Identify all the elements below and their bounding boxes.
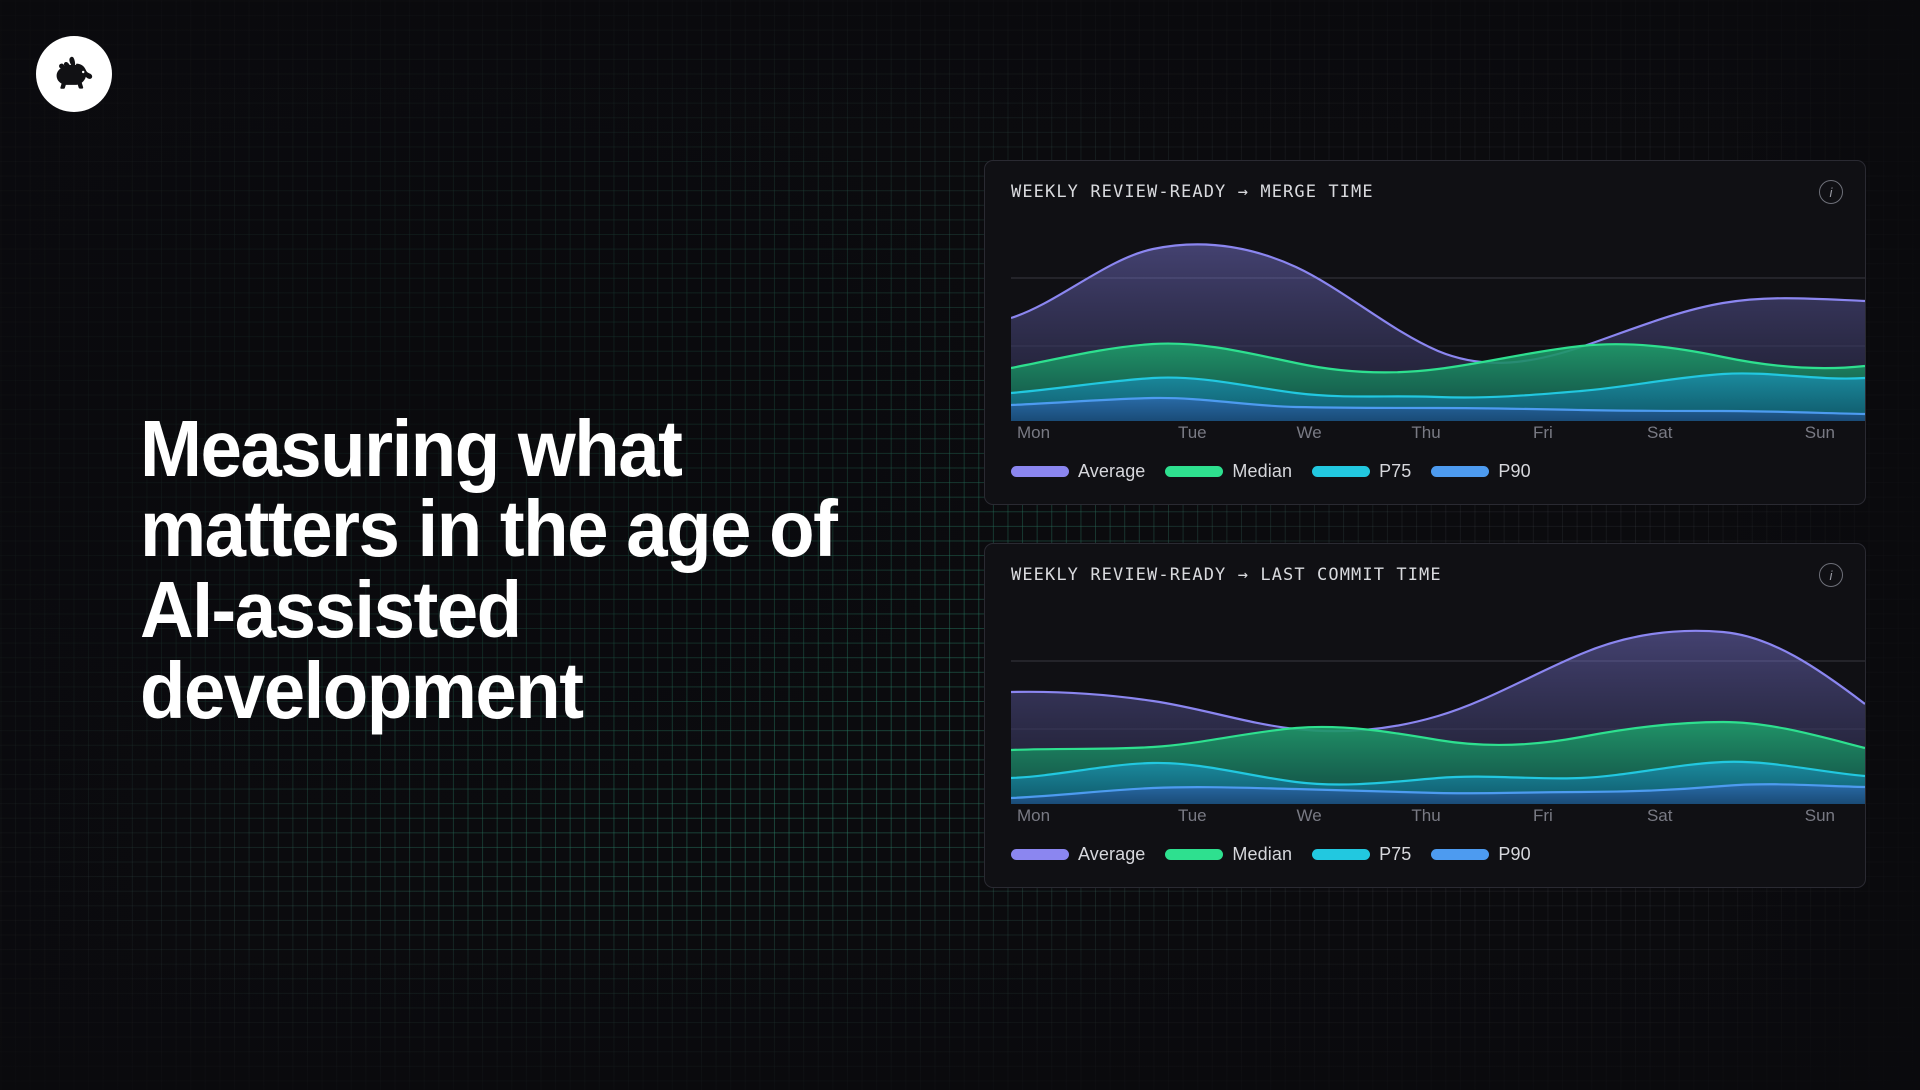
- chart-legend: Average Median P75 P90: [1011, 461, 1531, 482]
- legend-item-p90[interactable]: P90: [1431, 461, 1530, 482]
- legend-swatch-median: [1165, 466, 1223, 477]
- axis-tick-fri: Fri: [1484, 423, 1601, 445]
- chart-svg: [1011, 223, 1865, 421]
- metric-card-last-commit-time: WEEKLY REVIEW-READY → LAST COMMIT TIME i: [984, 543, 1866, 888]
- axis-tick-we: We: [1251, 806, 1368, 828]
- legend-item-p75[interactable]: P75: [1312, 844, 1411, 865]
- axis-tick-tue: Tue: [1134, 423, 1251, 445]
- legend-swatch-median: [1165, 849, 1223, 860]
- legend-label-average: Average: [1078, 461, 1145, 482]
- axis-tick-we: We: [1251, 423, 1368, 445]
- axis-tick-mon: Mon: [1011, 423, 1134, 445]
- axis-tick-sat: Sat: [1601, 806, 1718, 828]
- legend-label-p75: P75: [1379, 844, 1411, 865]
- legend-swatch-p90: [1431, 466, 1489, 477]
- legend-item-p75[interactable]: P75: [1312, 461, 1411, 482]
- axis-tick-fri: Fri: [1484, 806, 1601, 828]
- chart-legend: Average Median P75 P90: [1011, 844, 1531, 865]
- info-circle-icon[interactable]: i: [1819, 563, 1843, 587]
- axis-tick-thu: Thu: [1368, 806, 1485, 828]
- rabbit-icon: [51, 51, 97, 97]
- area-chart-last-commit-time: [1011, 606, 1865, 804]
- x-axis-labels: Mon Tue We Thu Fri Sat Sun: [1011, 423, 1853, 445]
- legend-label-median: Median: [1232, 461, 1292, 482]
- axis-tick-sun: Sun: [1718, 806, 1853, 828]
- axis-tick-sat: Sat: [1601, 423, 1718, 445]
- legend-label-median: Median: [1232, 844, 1292, 865]
- axis-tick-thu: Thu: [1368, 423, 1485, 445]
- legend-swatch-p90: [1431, 849, 1489, 860]
- legend-label-average: Average: [1078, 844, 1145, 865]
- legend-swatch-average: [1011, 849, 1069, 860]
- card-title: WEEKLY REVIEW-READY → LAST COMMIT TIME: [1011, 565, 1442, 585]
- card-header: WEEKLY REVIEW-READY → LAST COMMIT TIME i: [985, 544, 1865, 606]
- legend-item-average[interactable]: Average: [1011, 844, 1145, 865]
- x-axis-labels: Mon Tue We Thu Fri Sat Sun: [1011, 806, 1853, 828]
- card-header: WEEKLY REVIEW-READY → MERGE TIME i: [985, 161, 1865, 223]
- axis-tick-sun: Sun: [1718, 423, 1853, 445]
- legend-label-p90: P90: [1498, 844, 1530, 865]
- area-chart-merge-time: [1011, 223, 1865, 421]
- legend-label-p75: P75: [1379, 461, 1411, 482]
- legend-item-median[interactable]: Median: [1165, 844, 1292, 865]
- legend-item-median[interactable]: Median: [1165, 461, 1292, 482]
- legend-swatch-p75: [1312, 849, 1370, 860]
- info-circle-icon[interactable]: i: [1819, 180, 1843, 204]
- chart-svg: [1011, 606, 1865, 804]
- legend-label-p90: P90: [1498, 461, 1530, 482]
- axis-tick-mon: Mon: [1011, 806, 1134, 828]
- legend-swatch-p75: [1312, 466, 1370, 477]
- metric-card-merge-time: WEEKLY REVIEW-READY → MERGE TIME i: [984, 160, 1866, 505]
- brand-logo[interactable]: [36, 36, 112, 112]
- legend-item-average[interactable]: Average: [1011, 461, 1145, 482]
- axis-tick-tue: Tue: [1134, 806, 1251, 828]
- legend-item-p90[interactable]: P90: [1431, 844, 1530, 865]
- page-title: Measuring what matters in the age of AI-…: [140, 409, 847, 732]
- card-title: WEEKLY REVIEW-READY → MERGE TIME: [1011, 182, 1374, 202]
- page-root: Measuring what matters in the age of AI-…: [0, 0, 1920, 1090]
- legend-swatch-average: [1011, 466, 1069, 477]
